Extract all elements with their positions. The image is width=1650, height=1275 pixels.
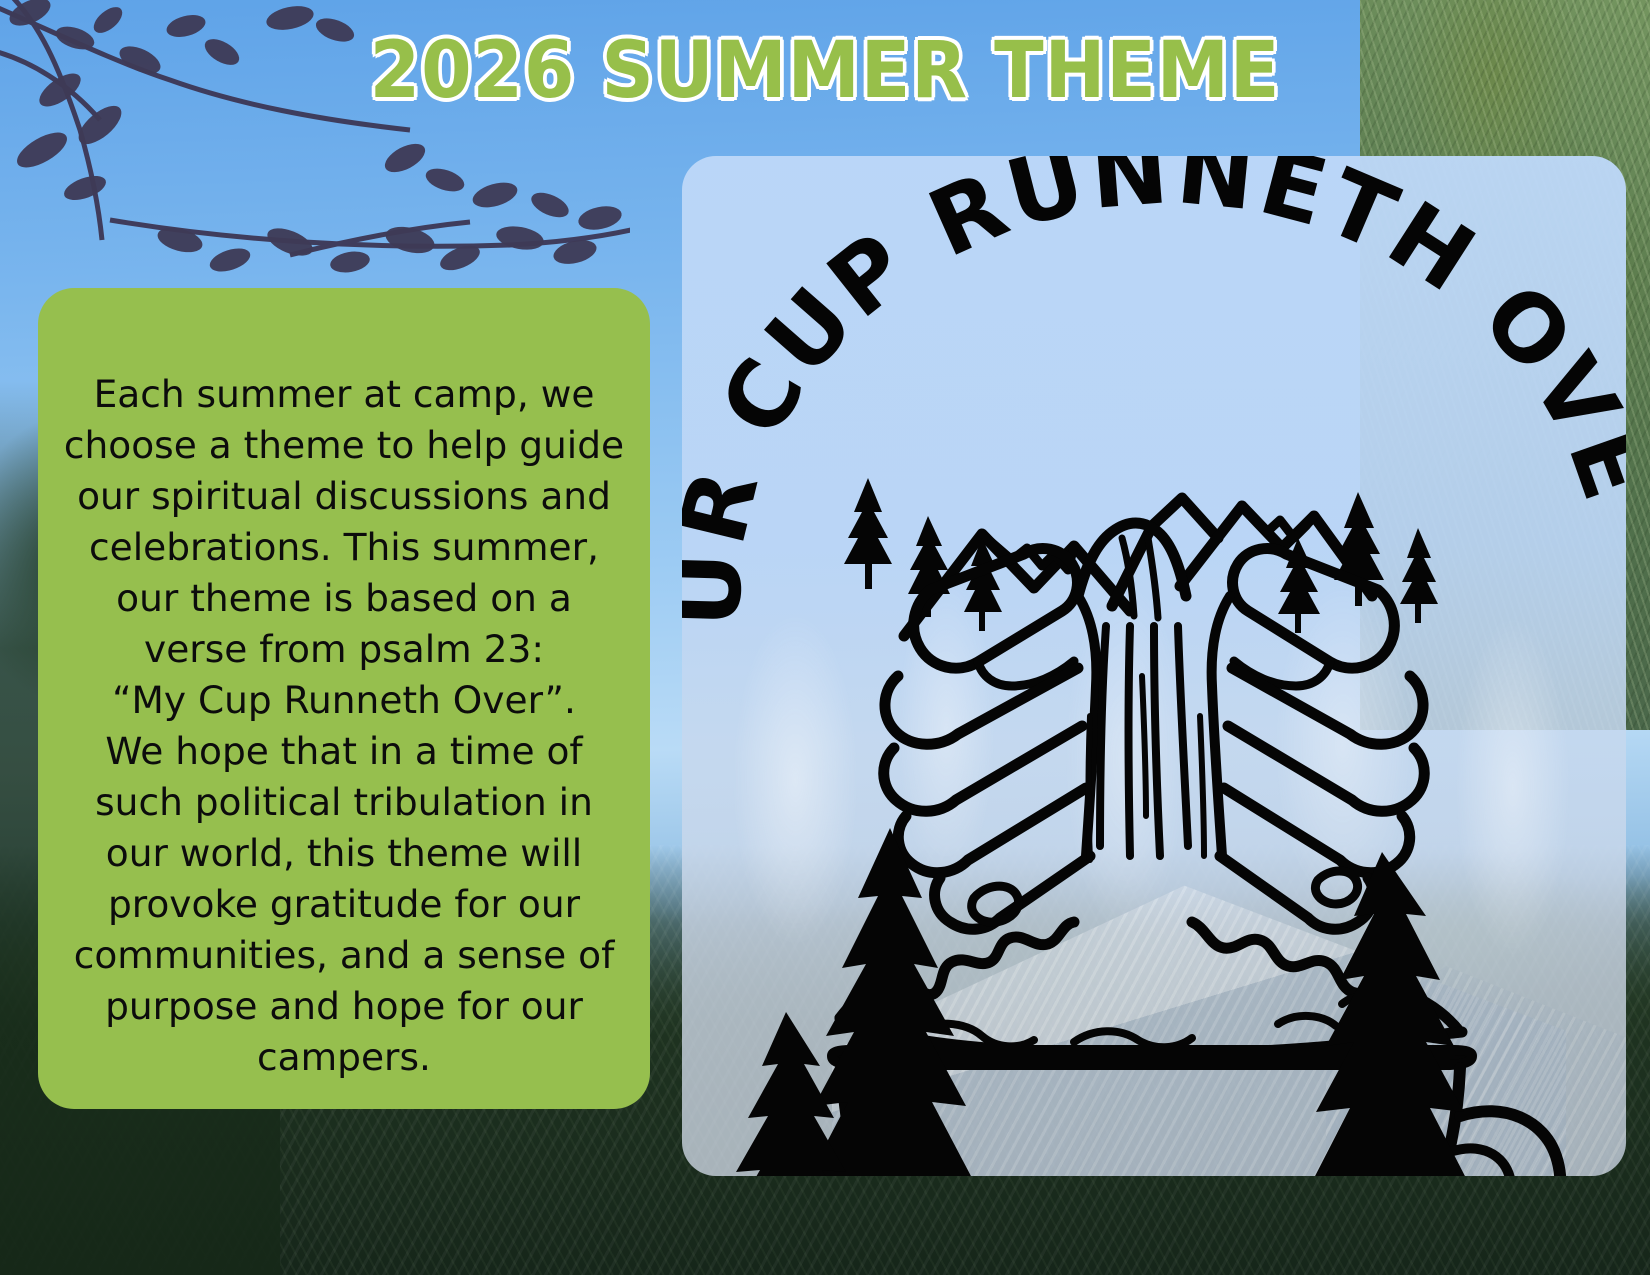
illustration-linework [728,478,1590,1176]
theme-description-text: Each summer at camp, we choose a theme t… [64,372,624,1079]
theme-description-card: Each summer at camp, we choose a theme t… [38,288,650,1109]
cup-runneth-over-illustration: OUR CUP RUNNETH OVER [682,156,1626,1176]
theme-artwork-panel: OUR CUP RUNNETH OVER [682,156,1626,1176]
poster-canvas: 2026 SUMMER THEME Each summer at camp, w… [0,0,1650,1275]
page-title: 2026 SUMMER THEME [58,26,1593,116]
